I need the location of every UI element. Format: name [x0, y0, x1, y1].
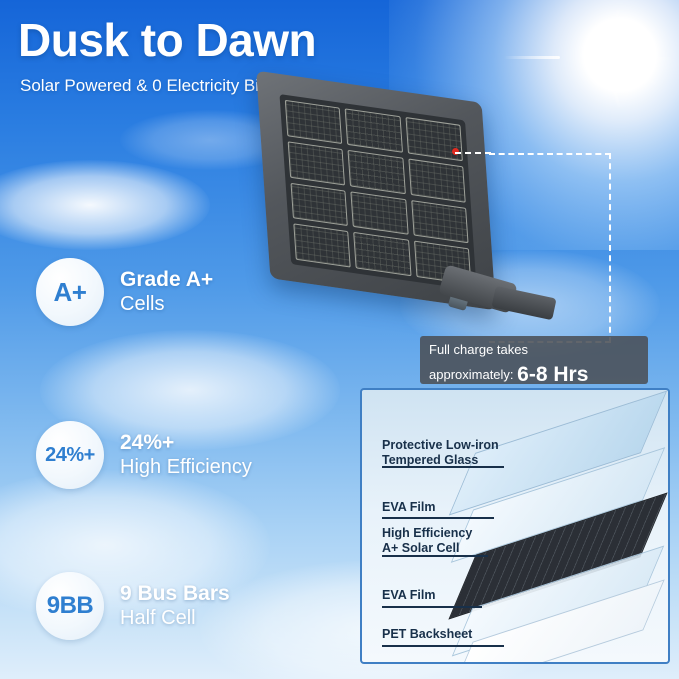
sun-ray-icon	[504, 56, 560, 59]
led-panel	[279, 94, 476, 291]
layer-label-solar-cell-line1: High Efficiency	[382, 526, 532, 541]
feature-efficiency-line2: High Efficiency	[120, 455, 252, 479]
layer-label-eva-film-top-line1: EVA Film	[382, 500, 532, 515]
led-module	[285, 100, 343, 144]
bus-bars-badge: 9BB	[36, 572, 104, 640]
page-subtitle: Solar Powered & 0 Electricity Bill	[20, 76, 267, 96]
layer-label-solar-cell-line2: A+ Solar Cell	[382, 541, 532, 556]
layer-label-tempered-glass-line1: Protective Low-iron	[382, 438, 532, 453]
led-module	[411, 199, 469, 243]
efficiency-badge: 24%+	[36, 421, 104, 489]
feature-grade-a-plus-text: Grade A+ Cells	[120, 268, 213, 316]
layer-label-pet-backsheet: PET Backsheet	[382, 627, 542, 642]
layer-label-eva-film-bottom: EVA Film	[382, 588, 532, 603]
led-module	[351, 191, 409, 235]
feature-efficiency-text: 24%+ High Efficiency	[120, 431, 252, 479]
led-module	[288, 141, 346, 185]
feature-efficiency-line1: 24%+	[120, 431, 252, 455]
feature-efficiency: 24%+ 24%+ High Efficiency	[36, 421, 252, 489]
sun-ray-icon	[609, 26, 659, 61]
sun-ray-icon	[612, 57, 674, 60]
layer-callout-line	[382, 517, 494, 519]
feature-grade-a-plus-line2: Cells	[120, 292, 213, 316]
feature-bus-bars-line1: 9 Bus Bars	[120, 582, 230, 606]
grade-a-plus-badge-label: A+	[54, 277, 87, 308]
led-module	[408, 158, 466, 202]
feature-grade-a-plus-line1: Grade A+	[120, 268, 213, 292]
feature-grade-a-plus: A+ Grade A+ Cells	[36, 258, 213, 326]
layer-label-tempered-glass: Protective Low-iron Tempered Glass	[382, 438, 532, 469]
led-module	[293, 224, 351, 268]
led-module	[348, 150, 406, 194]
cloud-decoration	[0, 160, 210, 250]
efficiency-badge-label: 24%+	[45, 444, 95, 467]
bus-bars-badge-label: 9BB	[47, 592, 94, 620]
feature-bus-bars: 9BB 9 Bus Bars Half Cell	[36, 572, 230, 640]
layer-label-tempered-glass-line2: Tempered Glass	[382, 453, 532, 468]
charge-time-callout: Full charge takes approximately: 6-8 Hrs	[420, 336, 648, 384]
charge-callout-line1: Full charge takes	[429, 341, 640, 360]
callout-dashed-frame	[489, 153, 611, 343]
solar-panel-layer-diagram: Protective Low-iron Tempered Glass EVA F…	[360, 388, 670, 664]
sun-ray-icon	[609, 54, 660, 87]
grade-a-plus-badge: A+	[36, 258, 104, 326]
layer-label-pet-backsheet-line1: PET Backsheet	[382, 627, 542, 642]
charge-hours-value: 6-8 Hrs	[517, 363, 588, 386]
led-module	[345, 108, 403, 152]
sun-ray-icon	[605, 5, 622, 58]
charge-callout-line2: approximately:	[429, 367, 514, 382]
product-infographic-poster: Dusk to Dawn Solar Powered & 0 Electrici…	[0, 0, 679, 679]
layer-callout-line	[382, 645, 504, 647]
layer-callout-line	[382, 606, 482, 608]
callout-leader-line	[455, 152, 491, 156]
layer-label-eva-film-top: EVA Film	[382, 500, 532, 515]
layer-label-eva-film-bottom-line1: EVA Film	[382, 588, 532, 603]
feature-bus-bars-text: 9 Bus Bars Half Cell	[120, 582, 230, 630]
led-module	[354, 232, 412, 276]
page-title: Dusk to Dawn	[18, 16, 316, 64]
feature-bus-bars-line2: Half Cell	[120, 606, 230, 630]
layer-label-solar-cell: High Efficiency A+ Solar Cell	[382, 526, 532, 557]
sun-ray-icon	[605, 57, 622, 110]
led-module	[290, 182, 348, 226]
